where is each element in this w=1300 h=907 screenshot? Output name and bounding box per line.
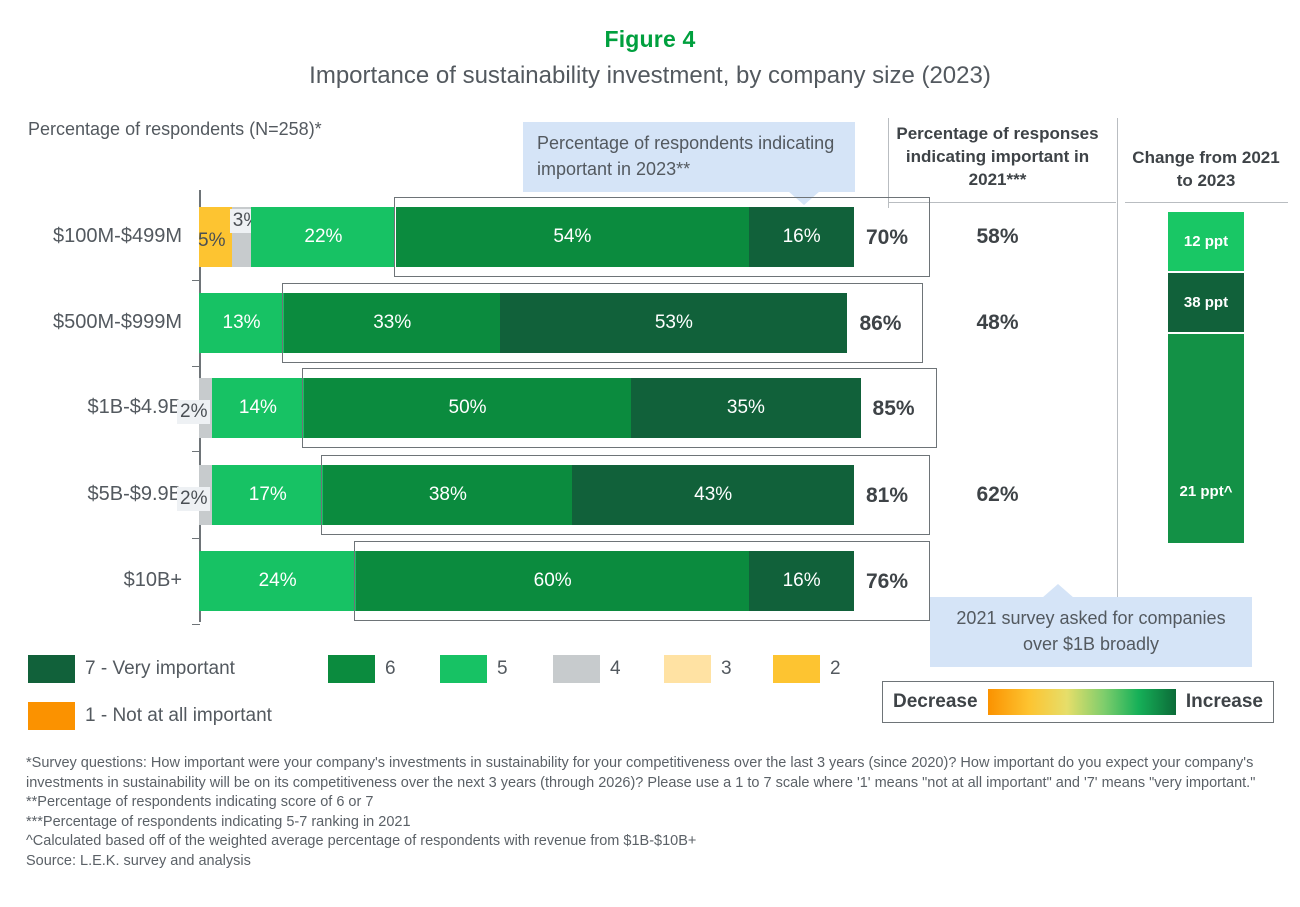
change-bar: 12 ppt <box>1167 211 1245 272</box>
callout-pointer-up-icon <box>1042 584 1074 598</box>
legend-swatch <box>553 655 600 683</box>
category-label: $100M-$499M <box>53 225 182 248</box>
legend-label: 5 <box>497 658 508 680</box>
callout-2023-text: Percentage of respondents indicating imp… <box>537 133 834 179</box>
legend-label: 4 <box>610 658 621 680</box>
bar-segment: 16% <box>749 207 854 267</box>
change-bar: 21 ppt^ <box>1167 333 1245 544</box>
axis-tick <box>192 538 200 539</box>
callout-2021-note: 2021 survey asked for companies over $1B… <box>930 597 1252 667</box>
category-label: $500M-$999M <box>53 311 182 334</box>
column-header-change: Change from 2021 to 2023 <box>1125 146 1287 192</box>
pct-2021-value: 58% <box>890 225 1105 249</box>
legend-item[interactable]: 4 <box>553 655 621 683</box>
axis-tick <box>192 280 200 281</box>
change-bar: 38 ppt <box>1167 272 1245 333</box>
footnote-4: ^Calculated based off of the weighted av… <box>26 832 1276 852</box>
legend-label: 3 <box>721 658 732 680</box>
legend-label: 1 - Not at all important <box>85 705 272 727</box>
bar-segment: 53% <box>500 293 847 353</box>
legend-swatch <box>773 655 820 683</box>
category-label: $5B-$9.9B <box>87 483 182 506</box>
legend-item[interactable]: 2 <box>773 655 841 683</box>
column-header-pct-2021: Percentage of responses indicating impor… <box>890 122 1105 191</box>
axis-tick <box>192 366 200 367</box>
bar-total-label: 76% <box>866 570 908 594</box>
change-bar-label: 38 ppt <box>1184 294 1228 311</box>
bar-segment: 13% <box>199 293 284 353</box>
bar-segment: 60% <box>356 551 749 611</box>
category-label: $10B+ <box>124 569 182 592</box>
callout-2023: Percentage of respondents indicating imp… <box>523 122 855 192</box>
pct-2021-value: 62% <box>890 483 1105 507</box>
footnote-5: Source: L.E.K. survey and analysis <box>26 852 1276 872</box>
gradient-swatch <box>988 689 1176 715</box>
bar-segment: 14% <box>212 378 304 438</box>
legend-swatch <box>28 702 75 730</box>
bar-segment: 43% <box>572 465 854 525</box>
legend-item[interactable]: 3 <box>664 655 732 683</box>
legend-swatch <box>28 655 75 683</box>
bar-segment: 24% <box>199 551 356 611</box>
gradient-legend-right-label: Increase <box>1176 691 1273 713</box>
bar-segment-label: 2% <box>177 400 210 424</box>
legend-swatch <box>328 655 375 683</box>
legend-item[interactable]: 6 <box>328 655 396 683</box>
figure-subtitle: Importance of sustainability investment,… <box>0 62 1300 90</box>
bar-segment: 50% <box>304 378 632 438</box>
bar-segment: 33% <box>284 293 500 353</box>
footnote-2: **Percentage of respondents indicating s… <box>26 793 1276 813</box>
legend-item[interactable]: 7 - Very important <box>28 655 235 683</box>
legend-label: 6 <box>385 658 396 680</box>
legend-item[interactable]: 5 <box>440 655 508 683</box>
divider-horizontal-change <box>1125 202 1288 203</box>
bar-segment: 17% <box>212 465 323 525</box>
bar-segment: 22% <box>251 207 395 267</box>
callout-2021-note-text: 2021 survey asked for companies over $1B… <box>956 608 1225 654</box>
axis-tick <box>192 451 200 452</box>
bar-segment: 54% <box>396 207 750 267</box>
pct-2021-value: 48% <box>890 311 1105 335</box>
legend-swatch <box>440 655 487 683</box>
change-bar-label: 12 ppt <box>1184 233 1228 250</box>
legend-label: 7 - Very important <box>85 658 235 680</box>
category-label: $1B-$4.9B <box>87 396 182 419</box>
bar-segment-label: 2% <box>177 487 210 511</box>
footnotes: *Survey questions: How important were yo… <box>26 754 1276 871</box>
footnote-1: *Survey questions: How important were yo… <box>26 754 1276 793</box>
gradient-legend-left-label: Decrease <box>883 691 988 713</box>
axis-tick <box>192 624 200 625</box>
bar-total-label: 85% <box>873 397 915 421</box>
axis-note: Percentage of respondents (N=258)* <box>28 119 322 140</box>
bar-segment-label: 5% <box>195 229 228 253</box>
bar-segment: 38% <box>323 465 572 525</box>
bar-segment: 35% <box>631 378 860 438</box>
change-bar-label: 21 ppt^ <box>1180 483 1233 500</box>
figure-label: Figure 4 <box>0 26 1300 53</box>
legend-label: 2 <box>830 658 841 680</box>
divider-horizontal-2021 <box>888 202 1116 203</box>
legend-item[interactable]: 1 - Not at all important <box>28 702 272 730</box>
divider-vertical-change <box>1117 118 1118 603</box>
footnote-3: ***Percentage of respondents indicating … <box>26 813 1276 833</box>
legend-swatch <box>664 655 711 683</box>
gradient-legend: Decrease Increase <box>882 681 1274 723</box>
bar-segment: 16% <box>749 551 854 611</box>
